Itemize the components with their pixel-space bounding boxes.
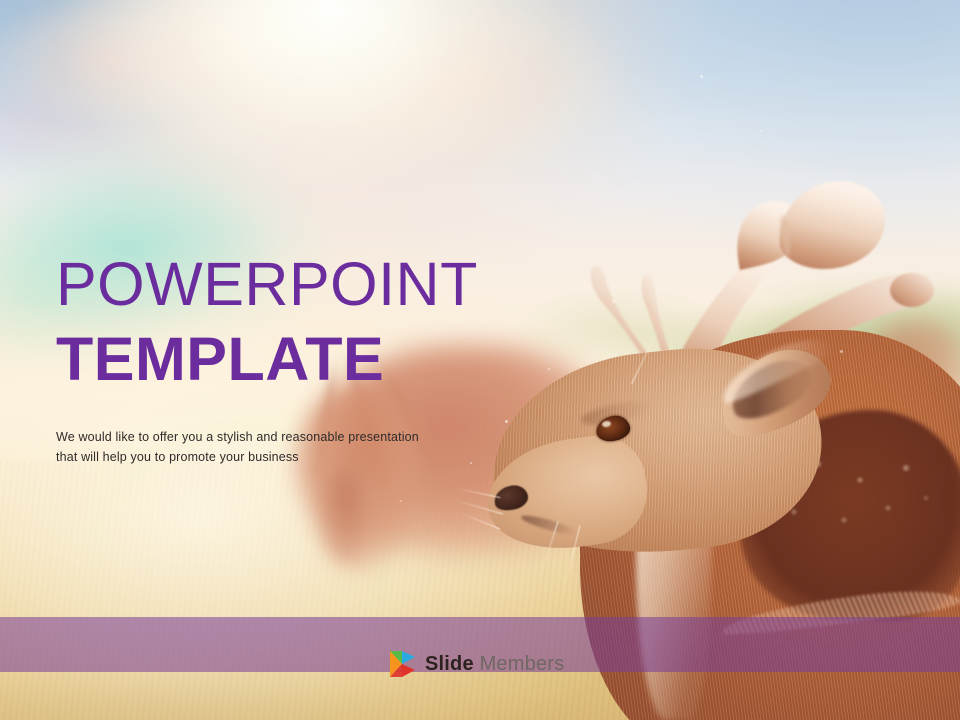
logo-brand-light: Members bbox=[480, 653, 565, 675]
title-block: POWERPOINT TEMPLATE We would like to off… bbox=[56, 252, 526, 467]
antler-right-tip bbox=[890, 273, 934, 307]
dust-mote bbox=[400, 500, 402, 502]
background-deer-head bbox=[318, 468, 374, 564]
dust-mote bbox=[700, 75, 703, 78]
logo-brand-bold: Slide bbox=[425, 653, 474, 675]
dust-mote bbox=[612, 300, 615, 303]
slide-members-logo[interactable]: Slide Members bbox=[386, 648, 564, 680]
logo-triangle-blue bbox=[402, 651, 415, 664]
antler-palm-right-lobe bbox=[780, 181, 885, 269]
page-title-line-2: TEMPLATE bbox=[56, 325, 526, 395]
subtitle-text: We would like to offer you a stylish and… bbox=[56, 428, 428, 467]
logo-triangle-red bbox=[402, 664, 415, 677]
dust-mote bbox=[760, 130, 762, 132]
dust-mote bbox=[840, 350, 843, 353]
logo-wordmark: Slide Members bbox=[425, 654, 564, 674]
presentation-slide: POWERPOINT TEMPLATE We would like to off… bbox=[0, 0, 960, 720]
dust-mote bbox=[548, 368, 550, 370]
slidemembers-pinwheel-icon bbox=[386, 648, 418, 680]
page-title-line-1: POWERPOINT bbox=[56, 252, 526, 317]
